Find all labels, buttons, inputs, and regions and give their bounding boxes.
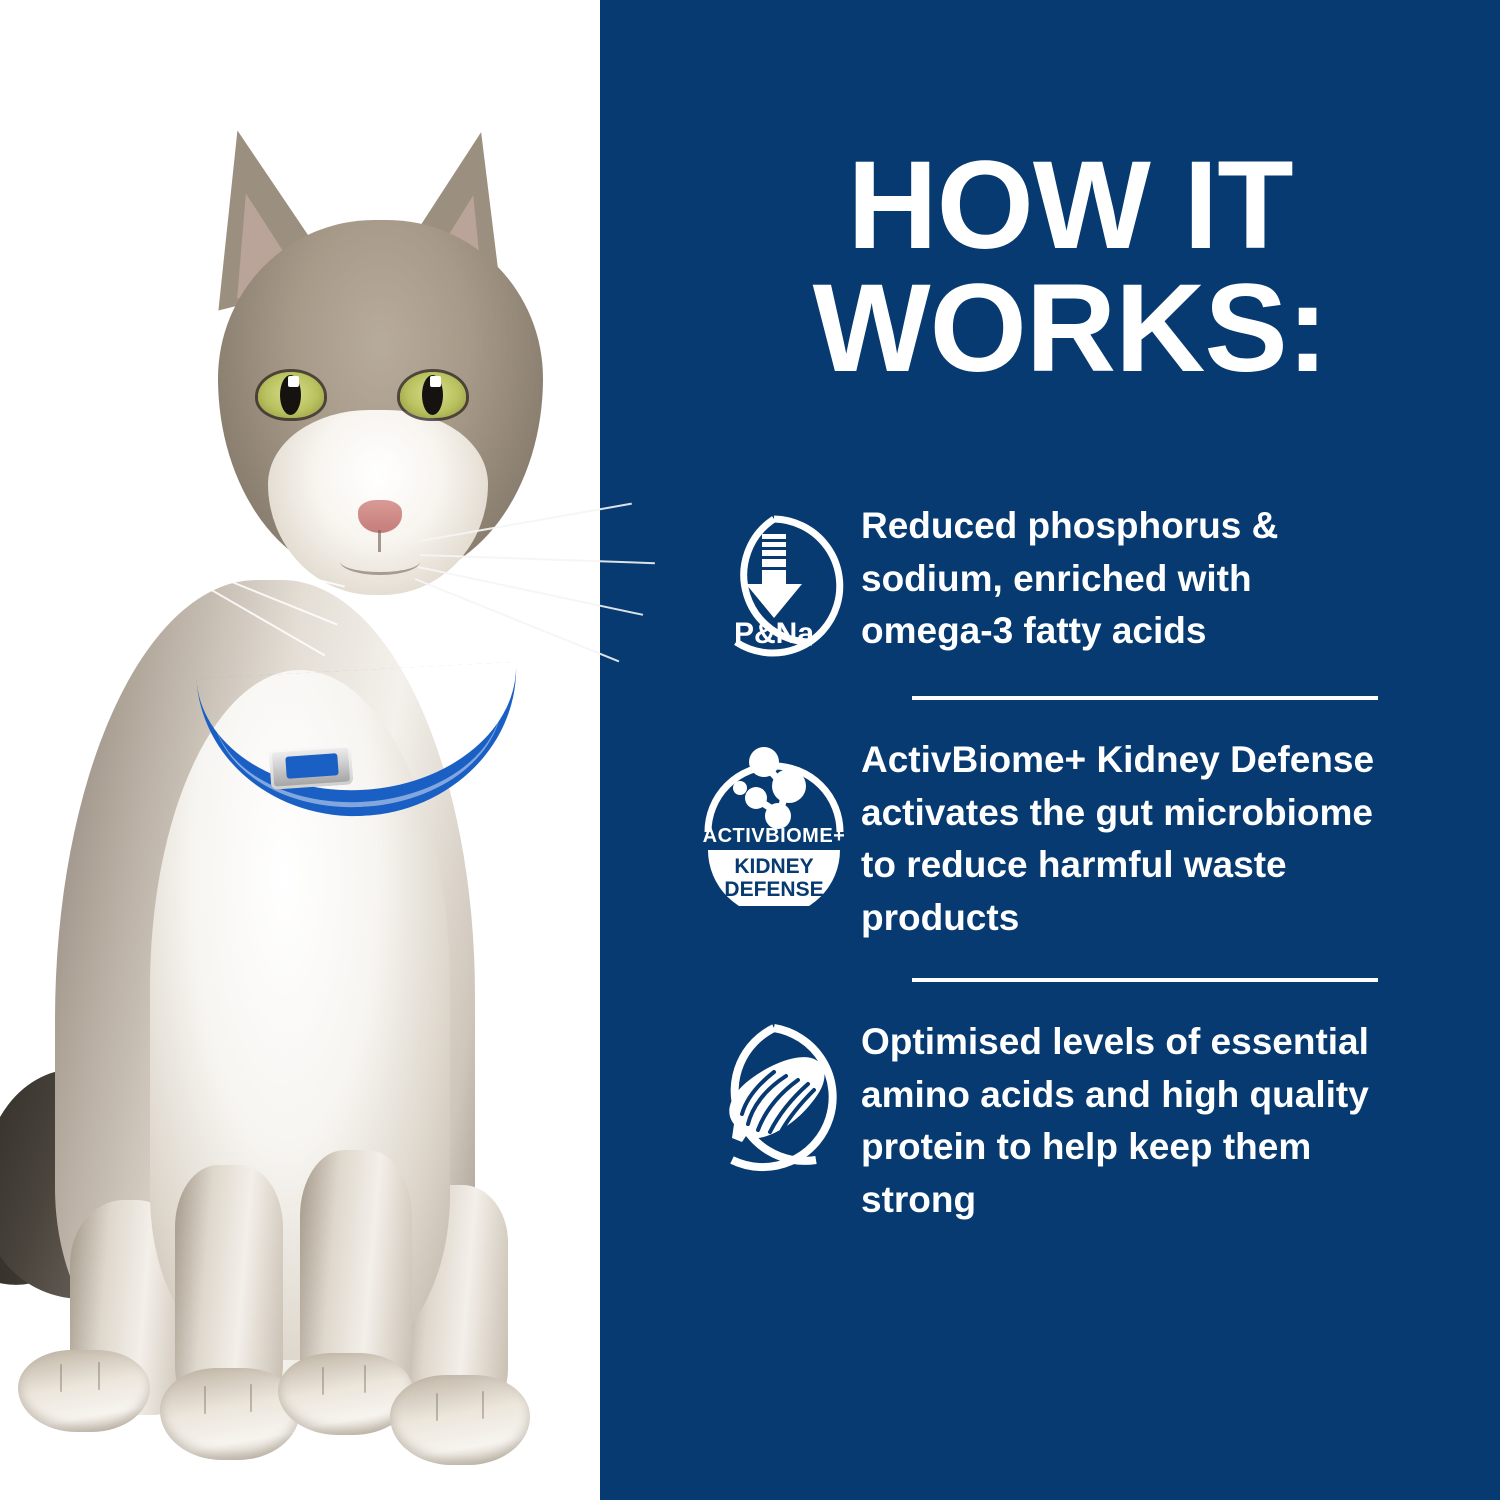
feature-text-protein: Optimised levels of essential amino acid… bbox=[861, 1016, 1425, 1226]
kidney-wordmark: KIDNEY bbox=[734, 855, 813, 878]
blue-content-panel: HOW IT WORKS: bbox=[600, 0, 1500, 1500]
page-title-line-1: HOW IT bbox=[720, 145, 1420, 268]
promo-banner: HOW IT WORKS: bbox=[0, 0, 1500, 1500]
cat-whisker bbox=[418, 566, 643, 616]
feature-list: P&Na Reduced phosphorus & sodium, enrich… bbox=[600, 500, 1500, 1226]
cat-paw bbox=[390, 1375, 530, 1465]
defense-wordmark: DEFENSE bbox=[724, 878, 823, 901]
cat-paw bbox=[18, 1350, 150, 1432]
activbiome-wordmark: ACTIVBIOME+ bbox=[702, 825, 845, 847]
page-title: HOW IT WORKS: bbox=[720, 145, 1420, 390]
feature-divider-1 bbox=[912, 696, 1378, 700]
page-title-line-2: WORKS: bbox=[720, 268, 1420, 391]
feature-item-activbiome: ACTIVBIOME+ KIDNEY DEFENSE ActivBiome+ K… bbox=[600, 734, 1500, 944]
cat-whisker bbox=[415, 578, 620, 662]
cat-photo bbox=[0, 110, 720, 1440]
feature-item-protein: Optimised levels of essential amino acid… bbox=[600, 1016, 1500, 1226]
cat-collar-buckle-hole bbox=[285, 753, 338, 779]
feature-text-activbiome: ActivBiome+ Kidney Defense activates the… bbox=[861, 734, 1425, 944]
cat-eye-right bbox=[400, 372, 466, 418]
cat-eye-left bbox=[258, 372, 324, 418]
svg-text:P&Na: P&Na bbox=[733, 617, 813, 650]
feature-text-phosphorus-sodium: Reduced phosphorus & sodium, enriched wi… bbox=[861, 500, 1425, 658]
feature-item-phosphorus-sodium: P&Na Reduced phosphorus & sodium, enrich… bbox=[600, 500, 1500, 662]
cat-mouth bbox=[340, 548, 420, 575]
feature-divider-2 bbox=[912, 978, 1378, 982]
